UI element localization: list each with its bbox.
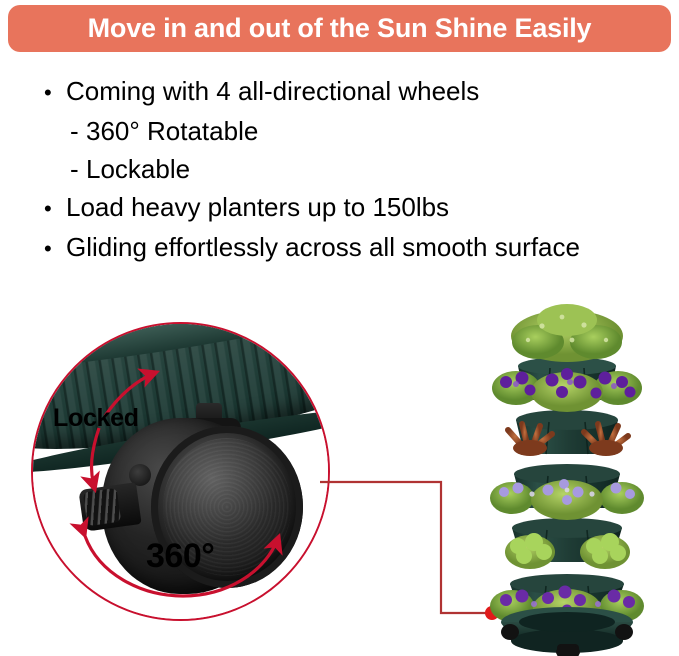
plant-purple-pansies: [492, 368, 642, 412]
dash-icon: -: [70, 112, 86, 150]
feature-text: Coming with 4 all-directional wheels: [66, 72, 479, 110]
leader-line-path: [320, 482, 492, 613]
feature-text: Load heavy planters up to 150lbs: [66, 188, 449, 226]
page-title: Move in and out of the Sun Shine Easily: [88, 15, 592, 42]
planter-illustration: [472, 262, 662, 656]
locked-label: Locked: [53, 404, 139, 433]
feature-text: Lockable: [86, 150, 190, 188]
dash-icon: -: [70, 150, 86, 188]
list-item: • Load heavy planters up to 150lbs: [44, 188, 674, 228]
callout-image: Locked 360°: [33, 324, 328, 619]
feature-list: • Coming with 4 all-directional wheels -…: [44, 72, 674, 268]
list-item: - 360° Rotatable: [44, 112, 674, 150]
feature-text: 360° Rotatable: [86, 112, 258, 150]
plant-top-crown: [511, 304, 623, 362]
feature-text: Gliding effortlessly across all smooth s…: [66, 228, 580, 266]
plant-lavender-blooms: [490, 479, 644, 520]
header-banner: Move in and out of the Sun Shine Easily: [8, 5, 671, 52]
caster-wheel-callout: Locked 360°: [31, 322, 330, 621]
bullet-icon: •: [44, 190, 66, 228]
bullet-icon: •: [44, 74, 66, 112]
list-item: - Lockable: [44, 150, 674, 188]
list-item: • Coming with 4 all-directional wheels: [44, 72, 674, 112]
rotation-label: 360°: [146, 537, 214, 576]
bullet-icon: •: [44, 230, 66, 268]
stacking-planter-tower: [472, 262, 662, 656]
brake-lever-ridges: [83, 488, 121, 526]
planter-base: [501, 607, 633, 656]
